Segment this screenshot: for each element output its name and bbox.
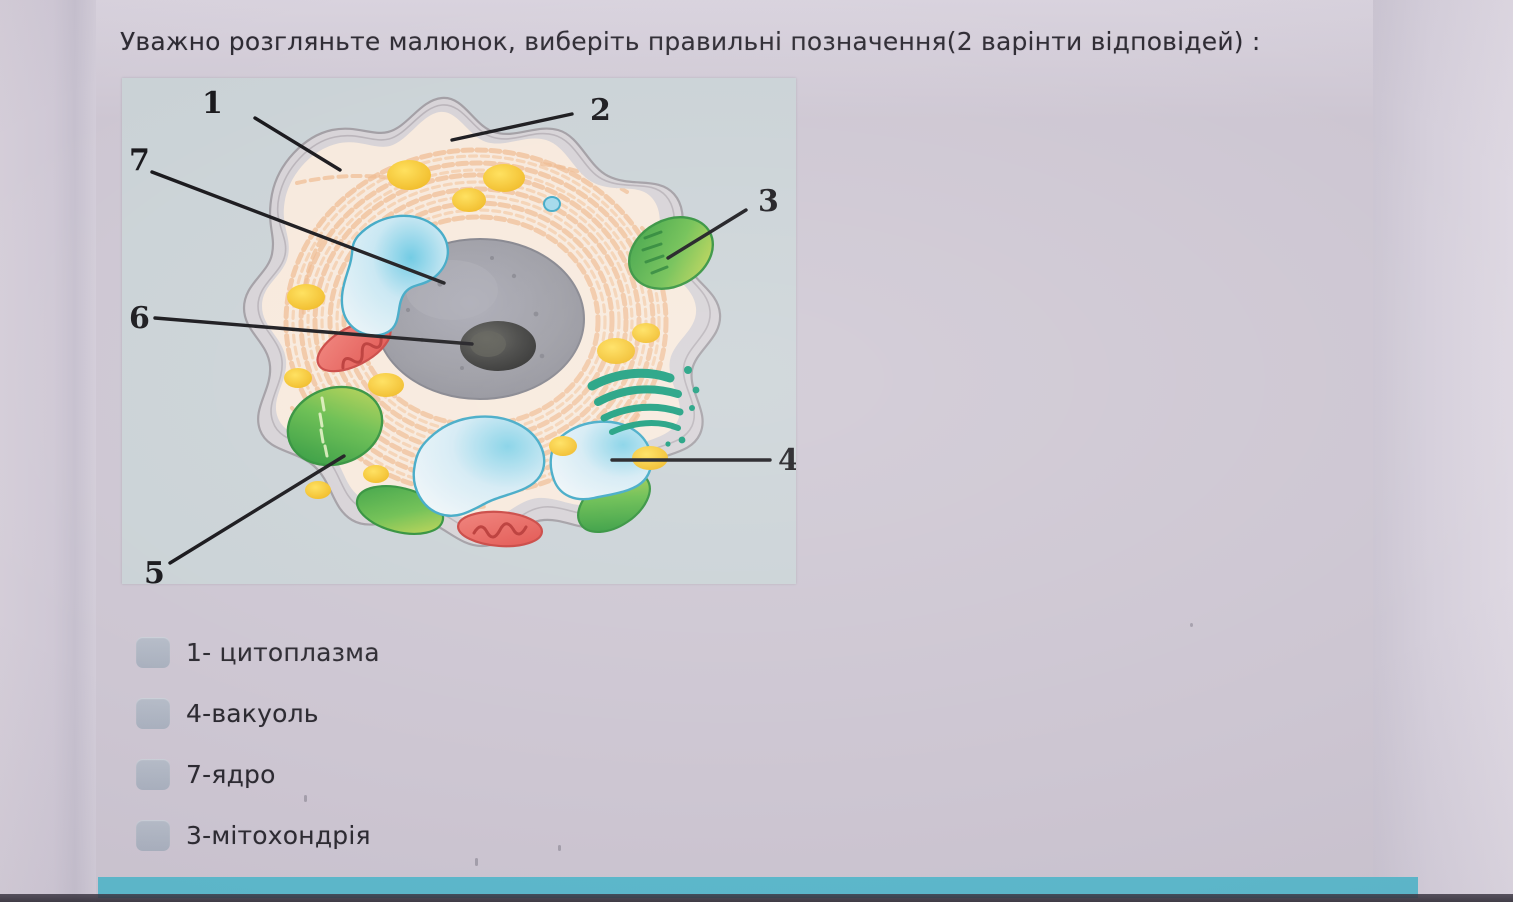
dust-speck-4 xyxy=(1190,623,1193,627)
option-row-4[interactable]: 3-мітохондрія xyxy=(136,805,836,866)
dust-speck-1 xyxy=(304,795,307,802)
callout-number-2: 2 xyxy=(590,93,611,128)
checkbox-option-2[interactable] xyxy=(136,698,170,729)
option-row-2[interactable]: 4-вакуоль xyxy=(136,683,836,744)
callout-number-3: 3 xyxy=(758,184,779,219)
option-label-2: 4-вакуоль xyxy=(186,699,319,728)
device-bezel xyxy=(0,894,1513,902)
option-label-4: 3-мітохондрія xyxy=(186,821,371,850)
option-label-3: 7-ядро xyxy=(186,760,276,789)
option-row-3[interactable]: 7-ядро xyxy=(136,744,836,805)
callout-number-4: 4 xyxy=(778,443,796,478)
screen-glare-left xyxy=(0,0,96,902)
dust-speck-2 xyxy=(475,858,478,866)
option-row-1[interactable]: 1- цитоплазма xyxy=(136,622,836,683)
option-label-1: 1- цитоплазма xyxy=(186,638,380,667)
answer-options-list: 1- цитоплазма 4-вакуоль 7-ядро 3-мітохон… xyxy=(136,622,836,866)
checkbox-option-1[interactable] xyxy=(136,637,170,668)
callout-number-5: 5 xyxy=(144,556,165,584)
nucleolus xyxy=(460,321,536,371)
checkbox-option-4[interactable] xyxy=(136,820,170,851)
page-title: Уважно розгляньте малюнок, виберіть прав… xyxy=(120,26,1380,58)
dust-speck-3 xyxy=(558,845,561,851)
plant-cell-diagram: 1 7 6 2 3 4 5 xyxy=(122,78,796,584)
callout-number-7: 7 xyxy=(129,143,150,178)
callout-number-1: 1 xyxy=(202,86,223,121)
callout-number-6: 6 xyxy=(129,301,150,336)
small-vesicle-top xyxy=(544,197,560,211)
screen-glare-right xyxy=(1373,0,1513,902)
checkbox-option-3[interactable] xyxy=(136,759,170,790)
